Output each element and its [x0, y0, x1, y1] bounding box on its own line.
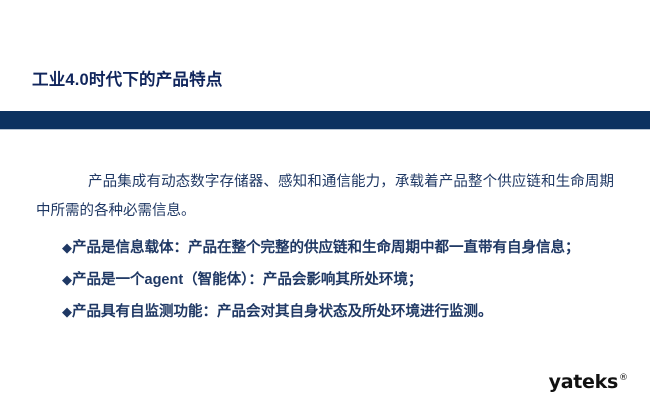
page-title: 工业4.0时代下的产品特点: [32, 66, 223, 90]
title-divider-hairline: [0, 129, 650, 130]
list-item: ◆ 产品是一个agent（智能体）：产品会影响其所处环境；: [0, 264, 650, 296]
brand-logo-wordmark: yateks: [549, 373, 618, 392]
slide-canvas: 工业4.0时代下的产品特点 产品集成有动态数字存储器、感知和通信能力，承载着产品…: [0, 0, 650, 404]
list-item: ◆ 产品具有自监测功能：产品会对其自身状态及所处环境进行监测。: [0, 296, 650, 328]
slide-body: 产品集成有动态数字存储器、感知和通信能力，承载着产品整个供应链和生命周期中所需的…: [0, 168, 650, 328]
bullet-list: ◆ 产品是信息载体：产品在整个完整的供应链和生命周期中都一直带有自身信息； ◆ …: [0, 232, 650, 328]
diamond-bullet-icon: ◆: [62, 296, 72, 328]
registered-trademark-icon: ®: [619, 374, 628, 383]
intro-paragraph: 产品集成有动态数字存储器、感知和通信能力，承载着产品整个供应链和生命周期中所需的…: [0, 168, 650, 226]
list-item-label: 产品具有自监测功能：产品会对其自身状态及所处环境进行监测。: [72, 296, 493, 328]
diamond-bullet-icon: ◆: [62, 264, 72, 296]
brand-logo: yateks ®: [549, 373, 628, 392]
list-item-label: 产品是一个agent（智能体）：产品会影响其所处环境；: [72, 264, 422, 296]
list-item-label: 产品是信息载体：产品在整个完整的供应链和生命周期中都一直带有自身信息；: [72, 232, 580, 264]
title-divider-bar: [0, 111, 650, 129]
list-item: ◆ 产品是信息载体：产品在整个完整的供应链和生命周期中都一直带有自身信息；: [0, 232, 650, 264]
diamond-bullet-icon: ◆: [62, 232, 72, 264]
